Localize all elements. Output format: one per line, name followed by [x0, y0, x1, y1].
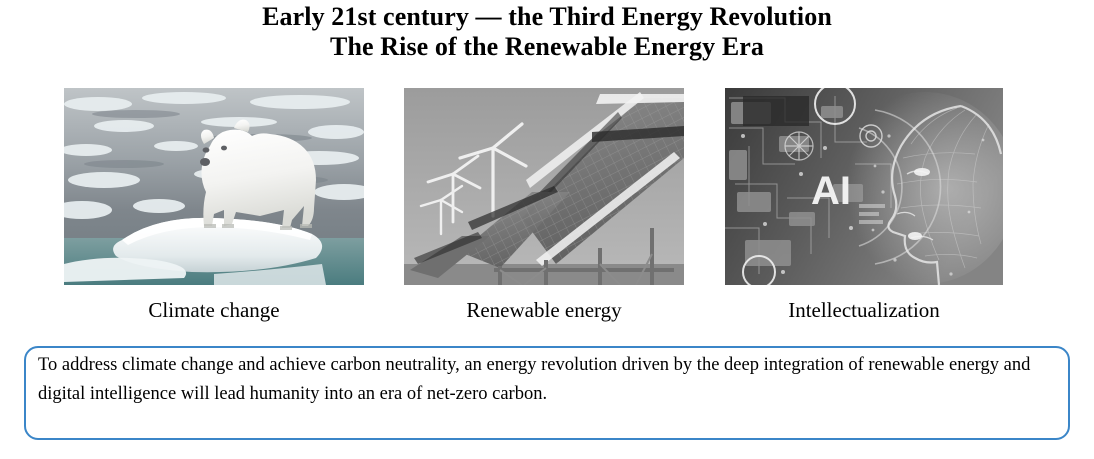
- figure-row: AI: [0, 88, 1094, 288]
- callout-box: To address climate change and achieve ca…: [24, 346, 1070, 440]
- figure-solar-panels-and-wind-turbines: [404, 88, 684, 285]
- figure-ai-circuit-board-human-profile: AI: [725, 88, 1003, 285]
- figure-caption-climate-change: Climate change: [64, 297, 364, 323]
- ai-illustration: AI: [725, 88, 1003, 285]
- figure-caption-intellectualization: Intellectualization: [725, 297, 1003, 323]
- polar-bear-illustration: [64, 88, 364, 285]
- slide-title: Early 21st century — the Third Energy Re…: [0, 2, 1094, 62]
- solar-wind-illustration: [404, 88, 684, 285]
- title-line-1: Early 21st century — the Third Energy Re…: [0, 2, 1094, 32]
- callout-text: To address climate change and achieve ca…: [38, 351, 1056, 408]
- figure-caption-renewable-energy: Renewable energy: [404, 297, 684, 323]
- figure-polar-bear-on-melting-ice: [64, 88, 364, 285]
- title-line-2: The Rise of the Renewable Energy Era: [0, 32, 1094, 62]
